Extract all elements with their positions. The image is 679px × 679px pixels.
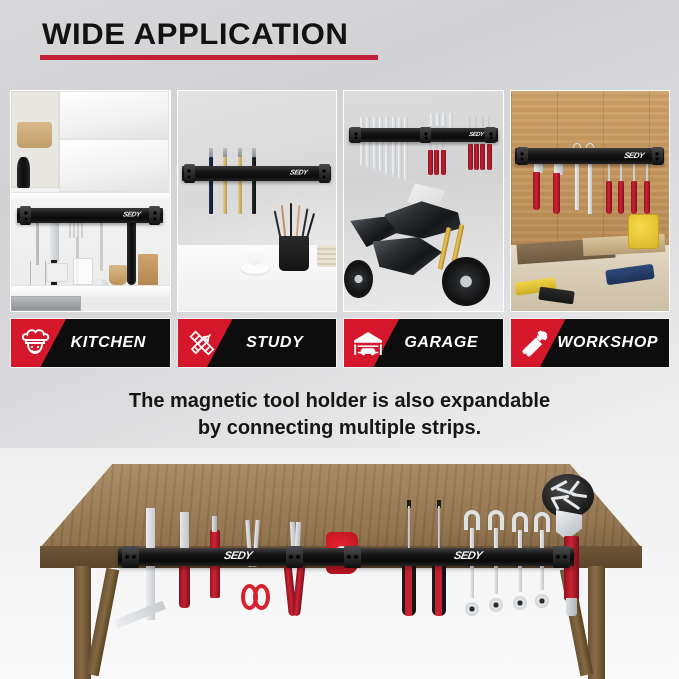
kitchen-ladle: [93, 219, 109, 294]
garage-photo: SEDY: [343, 90, 504, 312]
product-feature-image: WIDE APPLICATION: [0, 0, 679, 679]
kitchen-scale: [46, 263, 68, 283]
category-study[interactable]: STUDY: [177, 318, 338, 368]
magnetic-strip-pair: SEDY SEDY: [118, 548, 574, 566]
workshop-photo: SEDY: [510, 90, 671, 312]
kitchen-knife-block: [138, 254, 159, 287]
kitchen-dishwasher: [11, 296, 81, 311]
kitchen-cabinet-upper: [59, 91, 170, 139]
study-pen-black-tip: [252, 148, 256, 157]
caption-line-2: by connecting multiple strips.: [0, 415, 679, 442]
strip-mount-bracket-2: [286, 546, 303, 568]
workshop-screwdriver-4: [644, 157, 650, 214]
kitchen-pepper-mill: [127, 219, 136, 285]
hammer-wrench-icon: [513, 327, 557, 359]
application-photo-row: SEDY SEDY: [10, 90, 670, 312]
brand-logo: SEDY: [623, 152, 644, 160]
workshop-screwdriver-1: [606, 157, 612, 214]
study-teacup: [246, 247, 265, 265]
brand-logo-left: SEDY: [223, 551, 253, 562]
header: WIDE APPLICATION: [0, 0, 679, 86]
kitchen-kettle: [17, 157, 30, 188]
title-underline-rule: [40, 55, 378, 60]
page-title: WIDE APPLICATION: [42, 18, 348, 52]
category-kitchen[interactable]: KITCHEN: [10, 318, 171, 368]
category-label: WORKSHOP: [557, 334, 670, 352]
workshop-screwdriver-2: [618, 157, 624, 214]
kitchen-cabinet-lower: [59, 139, 170, 192]
workshop-tape-measure: [628, 214, 660, 249]
kitchen-knife: [49, 219, 59, 294]
category-garage[interactable]: GARAGE: [343, 318, 504, 368]
kitchen-photo: SEDY: [10, 90, 171, 312]
brand-logo: SEDY: [290, 170, 309, 177]
brand-logo: SEDY: [468, 132, 484, 138]
strip-mount-bracket-1: [122, 546, 139, 568]
study-pen-navy-tip: [209, 148, 213, 157]
expandable-caption: The magnetic tool holder is also expanda…: [0, 388, 679, 442]
motorcycle-rear-wheel: [344, 260, 373, 298]
brand-logo-right: SEDY: [453, 551, 483, 562]
magnetic-strip: SEDY: [17, 208, 163, 223]
strip-mount-bracket-4: [553, 546, 570, 568]
chef-hat-icon: [13, 327, 57, 359]
study-pencil-cup: [279, 236, 309, 271]
hero-long-nose-pliers: [286, 522, 304, 616]
kitchen-utensil-crock: [109, 265, 126, 285]
category-label: GARAGE: [390, 334, 503, 352]
pencil-ruler-icon: [180, 327, 224, 359]
study-photo: SEDY: [177, 90, 338, 312]
kitchen-basket: [17, 122, 52, 148]
garage-motorcycle: [344, 183, 503, 311]
kitchen-countertop-ledge: [11, 192, 170, 202]
study-pen-gold-1-tip: [223, 148, 227, 157]
category-label: STUDY: [224, 334, 337, 352]
workshop-screwdriver-3: [631, 157, 637, 214]
kitchen-canister: [73, 258, 94, 284]
study-books: [317, 245, 337, 267]
category-bar-row: KITCHEN STUDY: [10, 318, 670, 368]
study-pen-gold-2-tip: [238, 148, 242, 157]
caption-line-1: The magnetic tool holder is also expanda…: [129, 390, 550, 412]
car-garage-icon: [346, 327, 390, 359]
magnetic-strip: SEDY: [182, 166, 331, 181]
category-label: KITCHEN: [57, 334, 170, 352]
category-workshop[interactable]: WORKSHOP: [510, 318, 671, 368]
strip-mount-bracket-3: [344, 546, 361, 568]
brand-logo: SEDY: [122, 212, 141, 219]
expandable-strips-scene: SEDY SEDY: [0, 448, 679, 679]
motorcycle-engine: [373, 237, 443, 275]
magnetic-strip: SEDY: [515, 148, 664, 163]
motorcycle-front-wheel: [442, 257, 490, 305]
magnetic-strip: SEDY: [349, 128, 498, 141]
